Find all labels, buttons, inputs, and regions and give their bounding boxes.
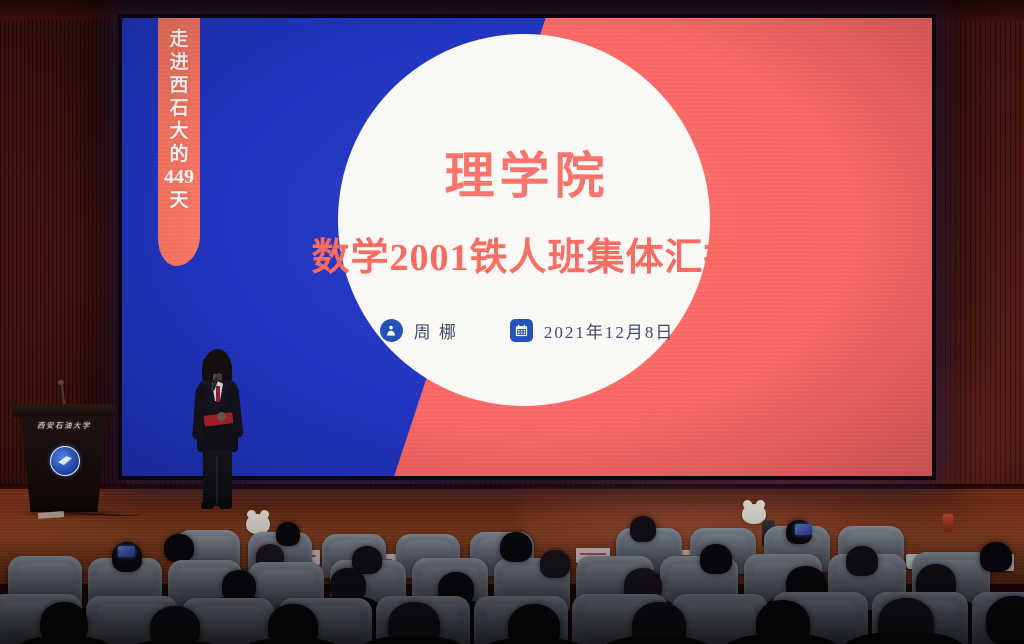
- slide-meta-presenter: 周 梛: [380, 318, 458, 343]
- auditorium-photo: 走 进 西 石 大 的 449 天 理学院 数学2001铁人班集体汇报: [0, 0, 1024, 644]
- audience-head: [630, 516, 656, 542]
- ribbon-char-1: 进: [169, 51, 188, 74]
- audience-head: [276, 522, 300, 546]
- presentation-date: 2021年12月8日: [544, 318, 675, 343]
- audience-head: [980, 542, 1012, 572]
- lectern-microphone-head: [58, 380, 64, 385]
- university-seal-icon: [50, 446, 80, 476]
- presenter-hand: [217, 412, 226, 421]
- presenter-tie: [216, 386, 220, 402]
- presenter-name: 周 梛: [414, 318, 458, 343]
- plush-toy: [246, 514, 270, 534]
- ribbon-char-3: 石: [169, 97, 188, 120]
- audience-head: [986, 596, 1024, 644]
- audience-area: [0, 498, 1024, 644]
- slide-title-main: 理学院: [122, 136, 932, 208]
- ribbon-char-0: 走: [169, 28, 188, 51]
- presenter-leg-split: [216, 456, 218, 504]
- drink-can: [943, 514, 953, 532]
- slide-meta-date: 2021年12月8日: [510, 318, 675, 343]
- calendar-icon: [510, 319, 533, 342]
- phone-screen: [795, 524, 812, 535]
- audience-head: [500, 532, 532, 562]
- audience-head: [540, 550, 570, 578]
- slide-meta-row: 周 梛: [122, 318, 932, 343]
- microphone-head: [216, 373, 222, 379]
- slide-white-circle: [338, 34, 710, 406]
- lectern-top: [12, 404, 116, 417]
- slide-title-sub: 数学2001铁人班集体汇报: [122, 226, 932, 281]
- presenter-figure: [186, 352, 248, 512]
- phone-screen: [118, 546, 135, 557]
- audience-head: [150, 606, 200, 644]
- lectern-university-name: 西安石油大学: [26, 420, 102, 431]
- audience-head: [164, 534, 194, 562]
- person-icon: [380, 319, 403, 342]
- audience-head: [700, 544, 732, 574]
- audience-head: [846, 546, 878, 576]
- ribbon-char-2: 西: [169, 74, 188, 97]
